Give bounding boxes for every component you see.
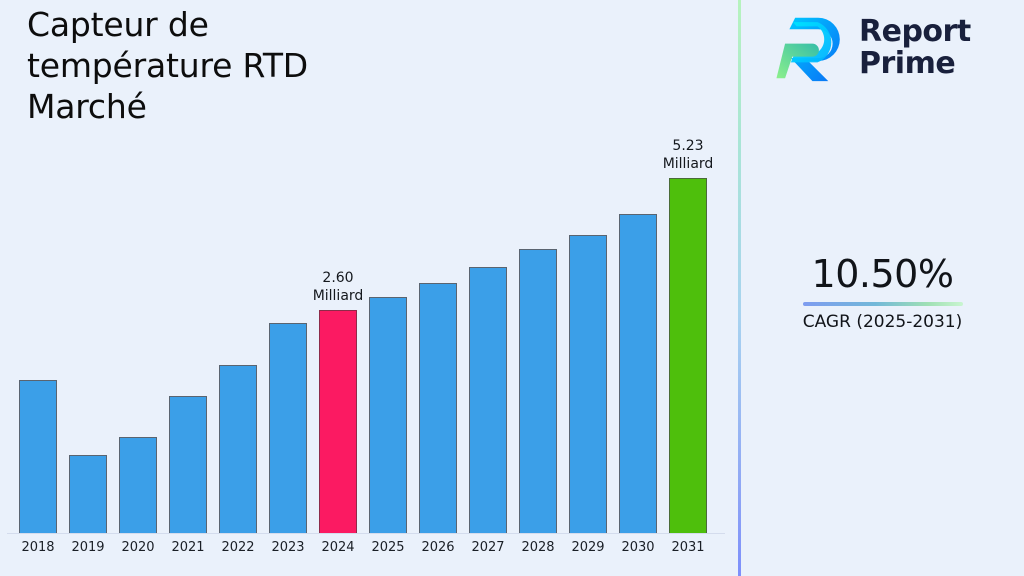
bar-2024: 2.60 Milliard [319, 310, 357, 533]
side-panel: Report Prime 10.50% CAGR (2025-2031) [741, 0, 1024, 576]
bar-rect-2030 [619, 214, 657, 533]
report-prime-logo-mark-icon [775, 12, 847, 84]
bar-rect-2022 [219, 365, 257, 533]
bar-rect-2031 [669, 178, 707, 533]
brand-wordmark: Report Prime [859, 16, 971, 80]
bar-2021 [169, 396, 207, 533]
x-axis-tick-2031: 2031 [658, 540, 718, 555]
brand-line-2: Prime [859, 46, 955, 81]
bar-rect-2019 [69, 455, 107, 533]
bar-rect-2018 [19, 380, 57, 533]
cagr-divider-rule [803, 302, 963, 306]
brand-logo: Report Prime [775, 12, 971, 84]
bar-2031: 5.23 Milliard [669, 178, 707, 533]
bar-2029 [569, 235, 607, 533]
cagr-block: 10.50% CAGR (2025-2031) [741, 252, 1024, 333]
bar-rect-2020 [119, 437, 157, 533]
bar-2023 [269, 323, 307, 533]
bar-2027 [469, 267, 507, 533]
bar-2025 [369, 297, 407, 533]
bar-2022 [219, 365, 257, 533]
bar-2020 [119, 437, 157, 533]
bar-rect-2025 [369, 297, 407, 533]
cagr-value: 10.50% [741, 252, 1024, 296]
brand-line-1: Report [859, 14, 971, 49]
bar-2030 [619, 214, 657, 533]
market-chart-infographic: Capteur de température RTD Marché 201820… [0, 0, 1024, 576]
bar-value-label-2031: 5.23 Milliard [642, 137, 734, 173]
bar-2018 [19, 380, 57, 533]
cagr-label: CAGR (2025-2031) [741, 311, 1024, 333]
bar-rect-2028 [519, 249, 557, 533]
bar-rect-2023 [269, 323, 307, 533]
bar-rect-2021 [169, 396, 207, 533]
bar-2028 [519, 249, 557, 533]
bar-chart-plot-area: 2018201920202021202220232.60 Milliard202… [0, 0, 739, 576]
bar-2026 [419, 283, 457, 533]
bar-rect-2026 [419, 283, 457, 533]
bar-2019 [69, 455, 107, 533]
bar-rect-2027 [469, 267, 507, 533]
bar-rect-2029 [569, 235, 607, 533]
x-axis-line [7, 533, 725, 534]
bar-rect-2024 [319, 310, 357, 533]
chart-panel: Capteur de température RTD Marché 201820… [0, 0, 739, 576]
